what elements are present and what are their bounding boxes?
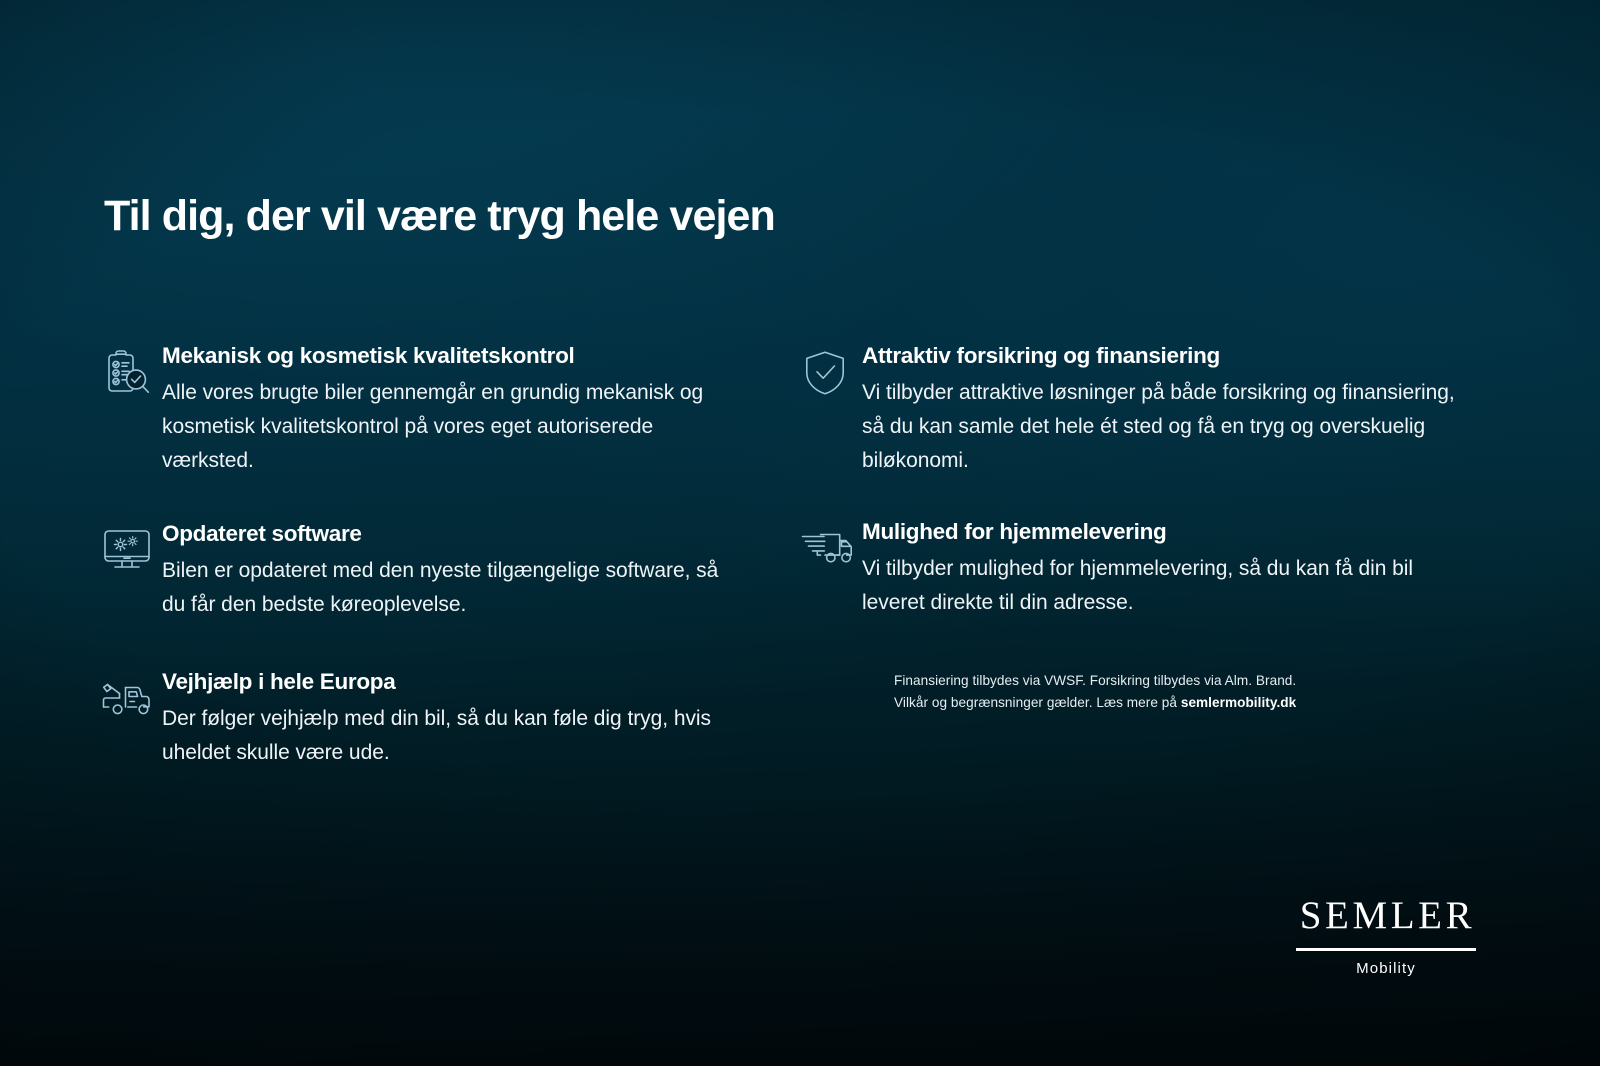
- feature-column-right: Attraktiv forsikring og finansiering Vi …: [800, 340, 1480, 652]
- disclaimer-line-2-prefix: Vilkår og begrænsninger gælder. Læs mere…: [894, 695, 1181, 710]
- feature-title: Attraktiv forsikring og finansiering: [862, 342, 1480, 369]
- feature-body: Bilen er opdateret med den nyeste tilgæn…: [162, 554, 740, 622]
- feature-item-quality-control: Mekanisk og kosmetisk kvalitetskontrol A…: [100, 340, 740, 478]
- feature-text: Opdateret software Bilen er opdateret me…: [162, 518, 740, 622]
- feature-title: Mekanisk og kosmetisk kvalitetskontrol: [162, 342, 740, 369]
- feature-text: Mulighed for hjemmelevering Vi tilbyder …: [862, 516, 1480, 620]
- logo-subtitle: Mobility: [1296, 960, 1476, 977]
- logo-wordmark: SEMLER: [1296, 896, 1476, 935]
- feature-column-left: Mekanisk og kosmetisk kvalitetskontrol A…: [100, 340, 740, 804]
- disclaimer-line-2: Vilkår og begrænsninger gælder. Læs mere…: [894, 692, 1414, 714]
- feature-body: Vi tilbyder attraktive løsninger på både…: [862, 376, 1480, 478]
- monitor-gears-icon: [100, 526, 162, 582]
- shield-check-icon: [800, 348, 862, 404]
- feature-body: Vi tilbyder mulighed for hjemmelevering,…: [862, 552, 1480, 620]
- feature-title: Opdateret software: [162, 520, 740, 547]
- disclaimer-text: Finansiering tilbydes via VWSF. Forsikri…: [894, 670, 1414, 714]
- clipboard-check-magnifier-icon: [100, 348, 162, 404]
- feature-item-software: Opdateret software Bilen er opdateret me…: [100, 518, 740, 622]
- disclaimer-line-1: Finansiering tilbydes via VWSF. Forsikri…: [894, 670, 1414, 692]
- semlermobility-link[interactable]: semlermobility.dk: [1181, 695, 1296, 710]
- feature-title: Vejhjælp i hele Europa: [162, 668, 740, 695]
- tow-truck-icon: [100, 674, 162, 730]
- feature-text: Vejhjælp i hele Europa Der følger vejhjæ…: [162, 666, 740, 770]
- delivery-truck-icon: [800, 524, 862, 580]
- feature-item-insurance-financing: Attraktiv forsikring og finansiering Vi …: [800, 340, 1480, 478]
- promo-panel: Til dig, der vil være tryg hele vejen: [0, 0, 1600, 1066]
- feature-body: Der følger vejhjælp med din bil, så du k…: [162, 702, 740, 770]
- feature-item-home-delivery: Mulighed for hjemmelevering Vi tilbyder …: [800, 516, 1480, 620]
- semler-mobility-logo: SEMLER Mobility: [1296, 896, 1476, 977]
- logo-divider: [1296, 948, 1476, 951]
- page-title: Til dig, der vil være tryg hele vejen: [104, 192, 775, 241]
- feature-title: Mulighed for hjemmelevering: [862, 518, 1480, 545]
- feature-text: Mekanisk og kosmetisk kvalitetskontrol A…: [162, 340, 740, 478]
- feature-text: Attraktiv forsikring og finansiering Vi …: [862, 340, 1480, 478]
- feature-item-roadside-assistance: Vejhjælp i hele Europa Der følger vejhjæ…: [100, 666, 740, 770]
- feature-body: Alle vores brugte biler gennemgår en gru…: [162, 376, 740, 478]
